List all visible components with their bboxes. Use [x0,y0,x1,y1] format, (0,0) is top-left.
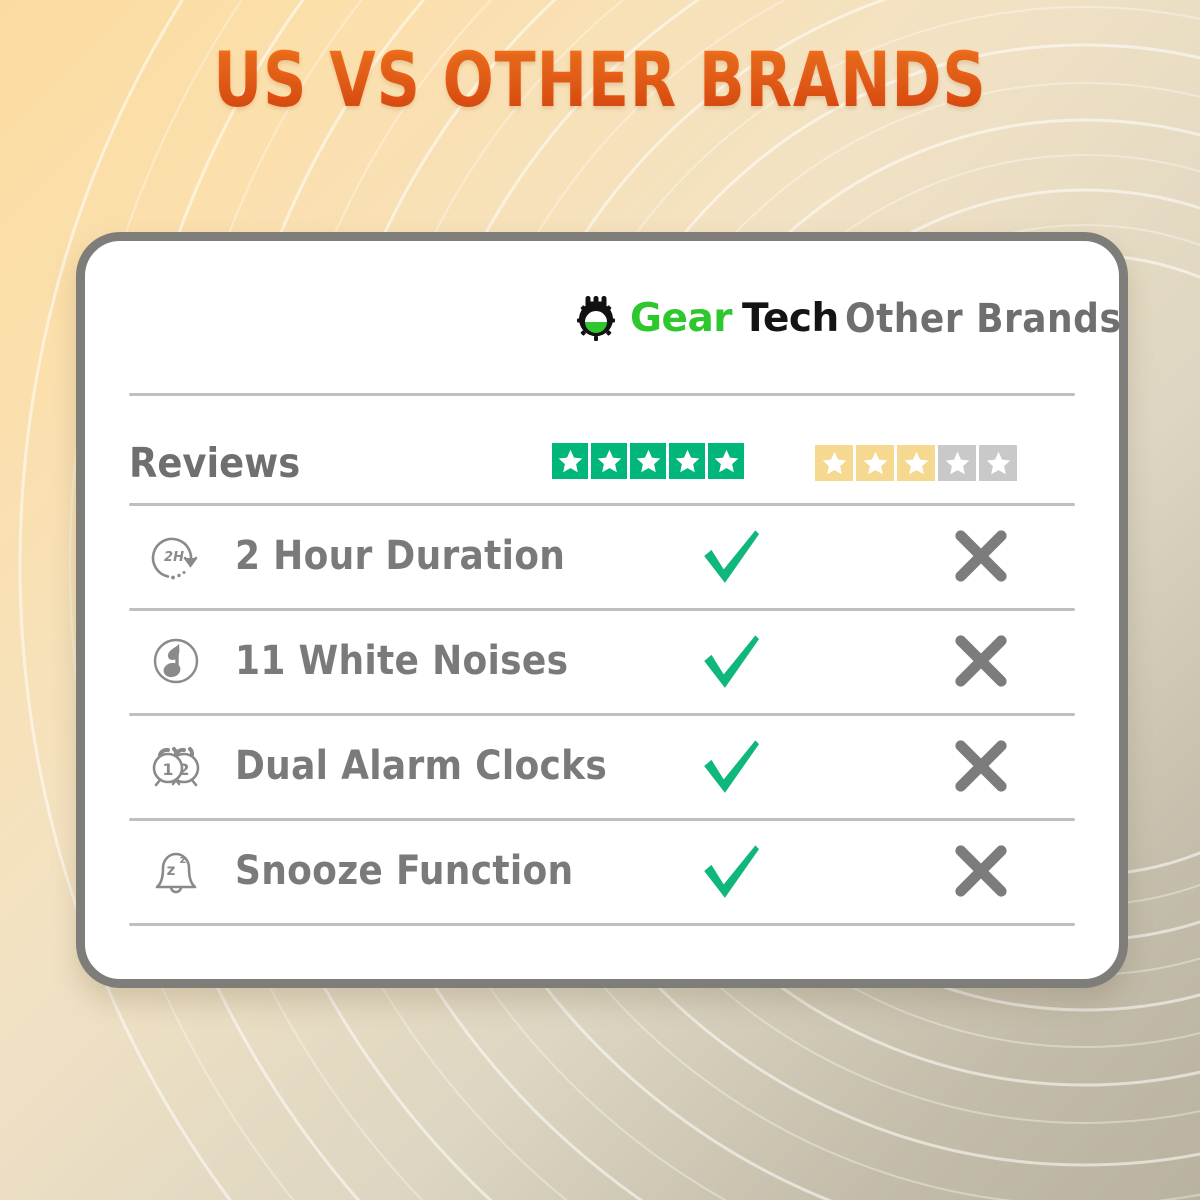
feature-row: 2 1 Dual Alarm Clocks [85,713,1119,818]
check-icon [683,832,779,910]
svg-text:z: z [167,861,176,879]
star-tile [815,445,853,481]
brand-name-gear: Gear [630,296,732,341]
feature-label: Dual Alarm Clocks [235,743,607,789]
feature-row: z z Snooze Function [85,818,1119,923]
cross-icon [933,730,1029,802]
check-icon [683,727,779,805]
reviews-stars-us [552,443,744,479]
other-brands-header: Other Brands [845,296,1115,342]
reviews-stars-other [815,445,1017,481]
star-tile [708,443,744,479]
star-tile [897,445,935,481]
star-tile [669,443,705,479]
svg-text:2H: 2H [164,550,184,565]
divider-header [129,393,1075,396]
music-note-icon [143,628,209,694]
brand-logo: GearTech [571,293,839,343]
gear-flask-icon [571,293,621,343]
feature-label: 2 Hour Duration [235,533,565,579]
star-tile [552,443,588,479]
snooze-bell-icon: z z [143,838,209,904]
check-icon [683,517,779,595]
page-title: US VS OTHER BRANDS [72,42,1128,118]
star-tile [979,445,1017,481]
comparison-card: GearTech Other Brands Reviews 2H [76,232,1128,988]
star-tile [630,443,666,479]
star-tile [591,443,627,479]
feature-label: 11 White Noises [235,638,568,684]
brand-name: GearTech [630,296,839,341]
cross-icon [933,520,1029,592]
feature-row: 11 White Noises [85,608,1119,713]
dual-alarm-clock-icon: 2 1 [143,733,209,799]
cross-icon [933,625,1029,697]
svg-text:1: 1 [162,760,173,779]
check-icon [683,622,779,700]
feature-label: Snooze Function [235,848,573,894]
svg-text:z: z [180,853,186,866]
divider-row-4 [129,923,1075,926]
star-tile [938,445,976,481]
star-tile [856,445,894,481]
two-hour-duration-icon: 2H [143,523,209,589]
brand-name-tech: Tech [742,296,839,341]
reviews-label: Reviews [129,439,300,487]
cross-icon [933,835,1029,907]
feature-row: 2H 2 Hour Duration [85,503,1119,608]
